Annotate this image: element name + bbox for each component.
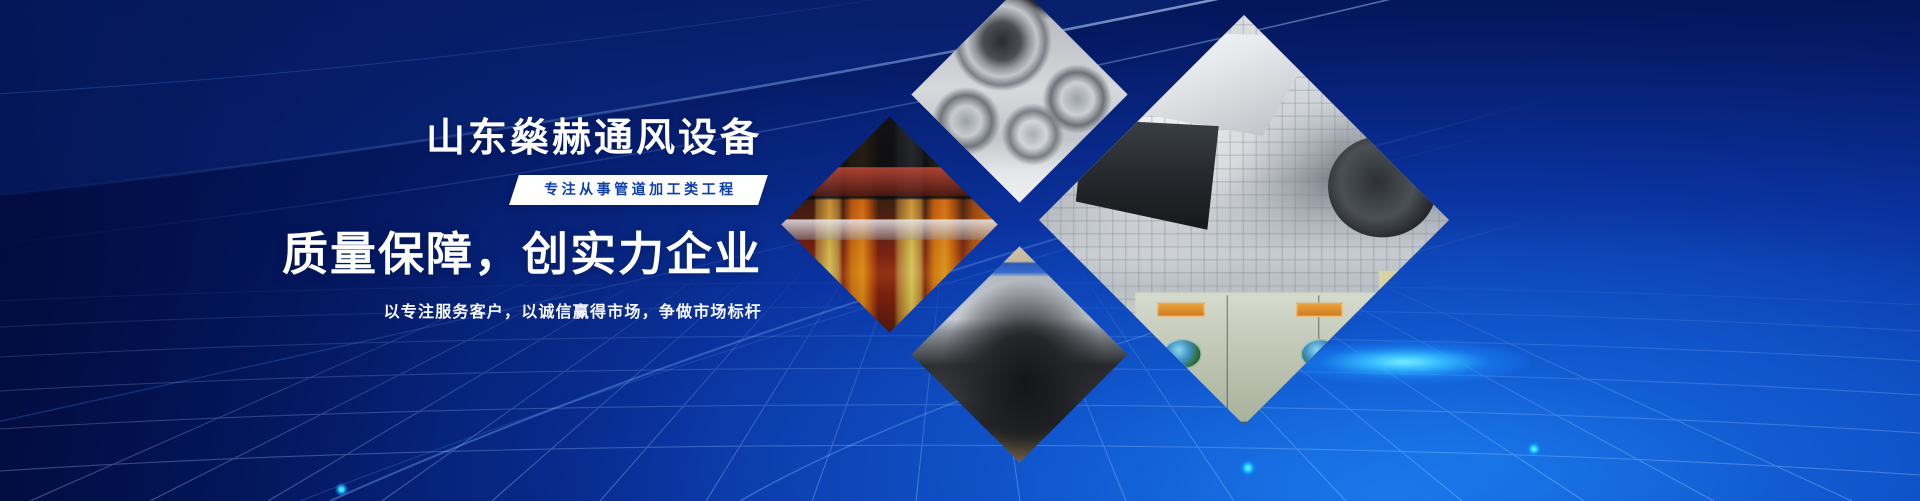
control-panel-bank xyxy=(1135,293,1413,422)
ribbon-row: 专注从事管道加工类工程 xyxy=(0,175,780,205)
subline: 以专注服务客户，以诚信赢得市场，争做市场标杆 xyxy=(0,302,780,324)
dark-duct-shape xyxy=(1076,119,1219,237)
banner-copy: 山东燊赫通风设备 专注从事管道加工类工程 质量保障，创实力企业 以专注服务客户，… xyxy=(0,118,780,325)
panel-tag-right xyxy=(1296,303,1343,317)
side-cabinet-shape xyxy=(1379,270,1450,421)
fan-housing-unit-photo-image xyxy=(911,246,1127,462)
fan-wheel-shape xyxy=(1328,136,1437,237)
headline: 质量保障，创实力企业 xyxy=(0,229,780,281)
coil-frame-highlight xyxy=(781,167,997,196)
coil-fin-highlight xyxy=(781,220,997,240)
panel-tag-left xyxy=(1157,303,1204,317)
panel-seal-right xyxy=(1301,339,1340,370)
panel-seal-left xyxy=(1162,339,1201,370)
tagline-ribbon-label: 专注从事管道加工类工程 xyxy=(544,181,737,198)
company-name: 山东燊赫通风设备 xyxy=(0,118,780,161)
fan-housing-unit-photo xyxy=(911,246,1127,462)
tagline-ribbon: 专注从事管道加工类工程 xyxy=(509,175,767,205)
product-photo-diamond-collage xyxy=(795,0,1555,501)
hero-banner: 山东燊赫通风设备 专注从事管道加工类工程 质量保障，创实力企业 以专注服务客户，… xyxy=(0,0,1920,501)
